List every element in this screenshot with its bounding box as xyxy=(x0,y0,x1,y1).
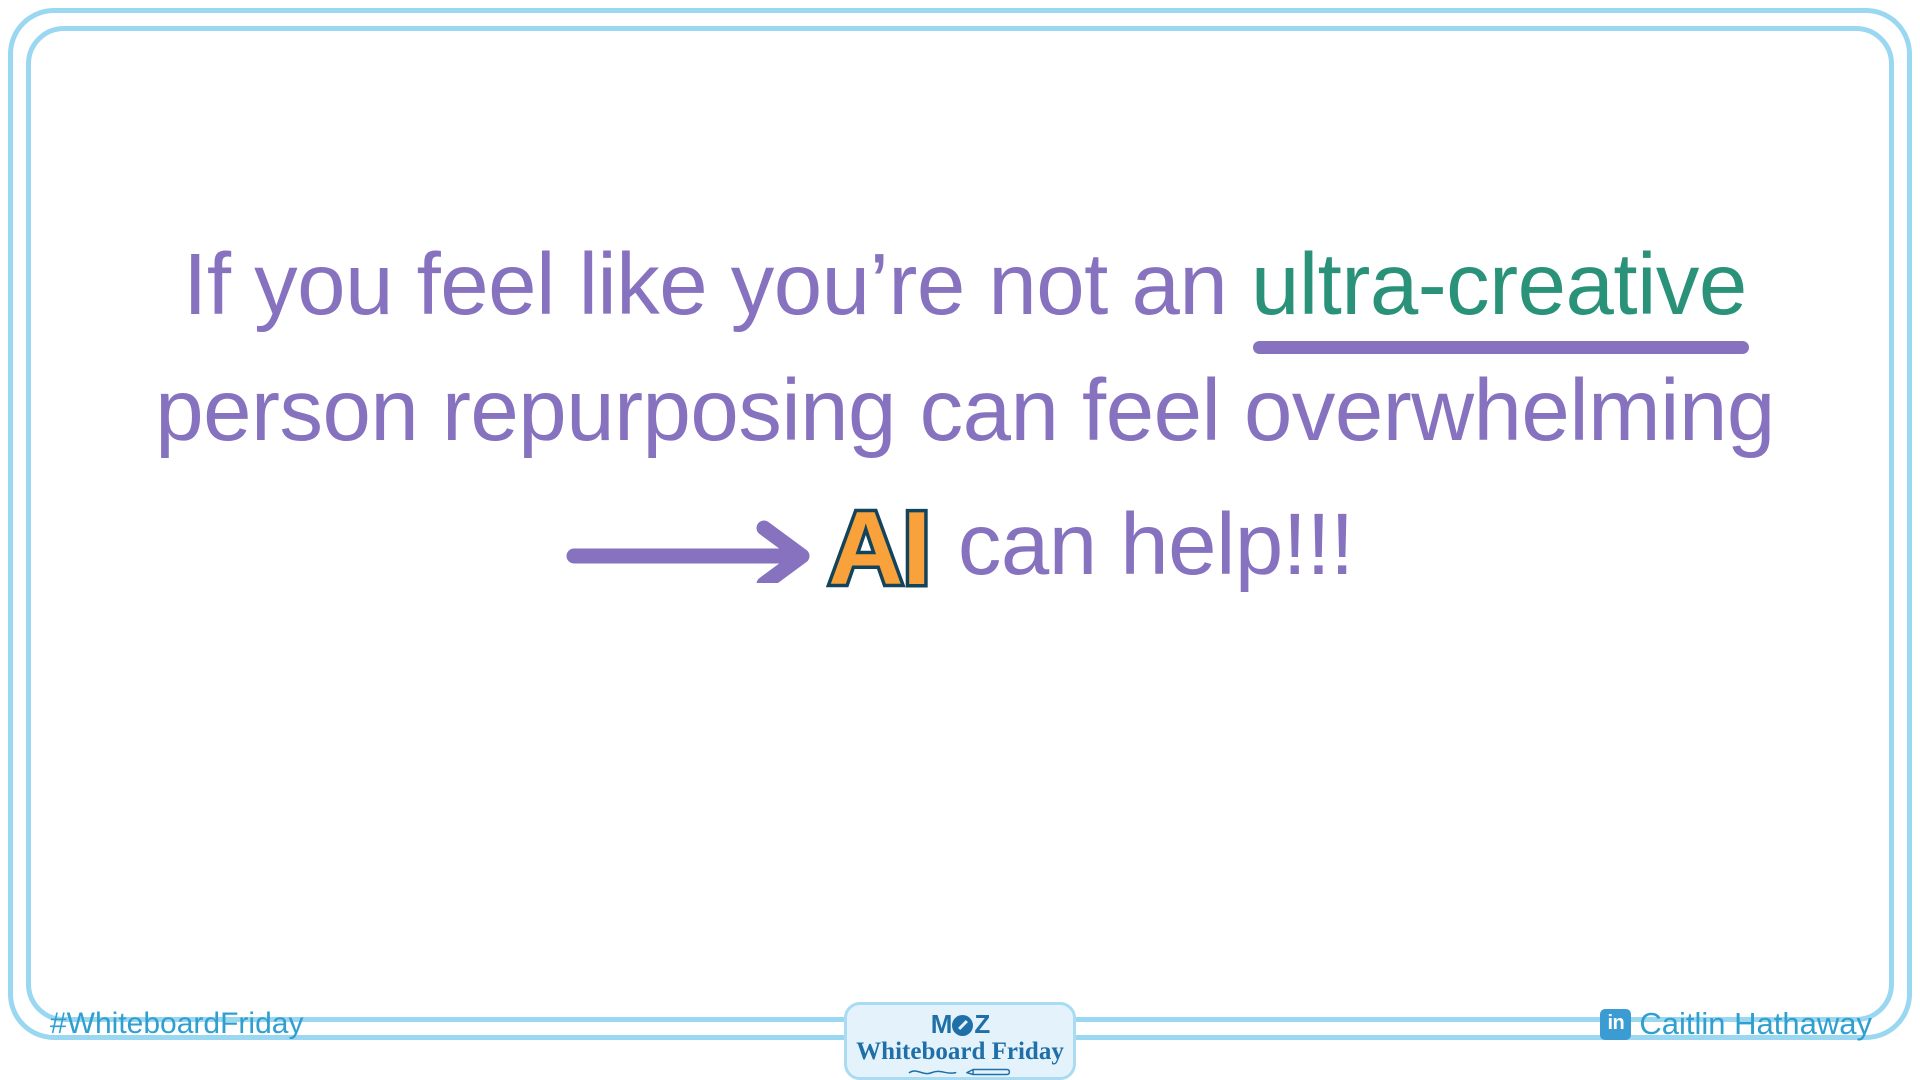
moz-whiteboard-friday-badge: M Z Whiteboard Friday xyxy=(844,1002,1076,1080)
linkedin-icon[interactable]: in xyxy=(1600,1009,1631,1040)
headline-line-3: AI can help!!! xyxy=(0,482,1920,608)
moz-badge-subtitle: Whiteboard Friday xyxy=(856,1038,1064,1065)
moz-wordmark-z: Z xyxy=(974,1011,989,1037)
linkedin-icon-glyph: in xyxy=(1608,1013,1625,1033)
headline-emphasis-ultra-creative: ultra-creative xyxy=(1251,222,1747,348)
ai-keyword: AI xyxy=(828,494,930,604)
headline-line-1-text: If you feel like you’re not an xyxy=(183,236,1251,333)
squiggle-and-marker-icon xyxy=(875,1067,1045,1077)
author-name: Caitlin Hathaway xyxy=(1639,1006,1872,1042)
headline-block: If you feel like you’re not an ultra-cre… xyxy=(0,222,1920,608)
headline-line-1: If you feel like you’re not an ultra-cre… xyxy=(0,222,1920,348)
headline-emphasis-underline xyxy=(1253,341,1749,354)
hashtag-label: #WhiteboardFriday xyxy=(50,1007,303,1041)
headline-line-2-text: person repurposing can feel overwhelming xyxy=(155,362,1774,459)
moz-wordmark-o-icon xyxy=(952,1015,973,1036)
author-credit: in Caitlin Hathaway xyxy=(1600,1006,1872,1042)
headline-line-2: person repurposing can feel overwhelming xyxy=(0,348,1920,474)
moz-wordmark: M Z xyxy=(931,1011,990,1037)
moz-wordmark-m: M xyxy=(931,1011,952,1037)
headline-line-3-text: can help!!! xyxy=(934,482,1354,608)
headline-emphasis-label: ultra-creative xyxy=(1251,236,1747,333)
right-arrow-icon xyxy=(566,513,826,583)
